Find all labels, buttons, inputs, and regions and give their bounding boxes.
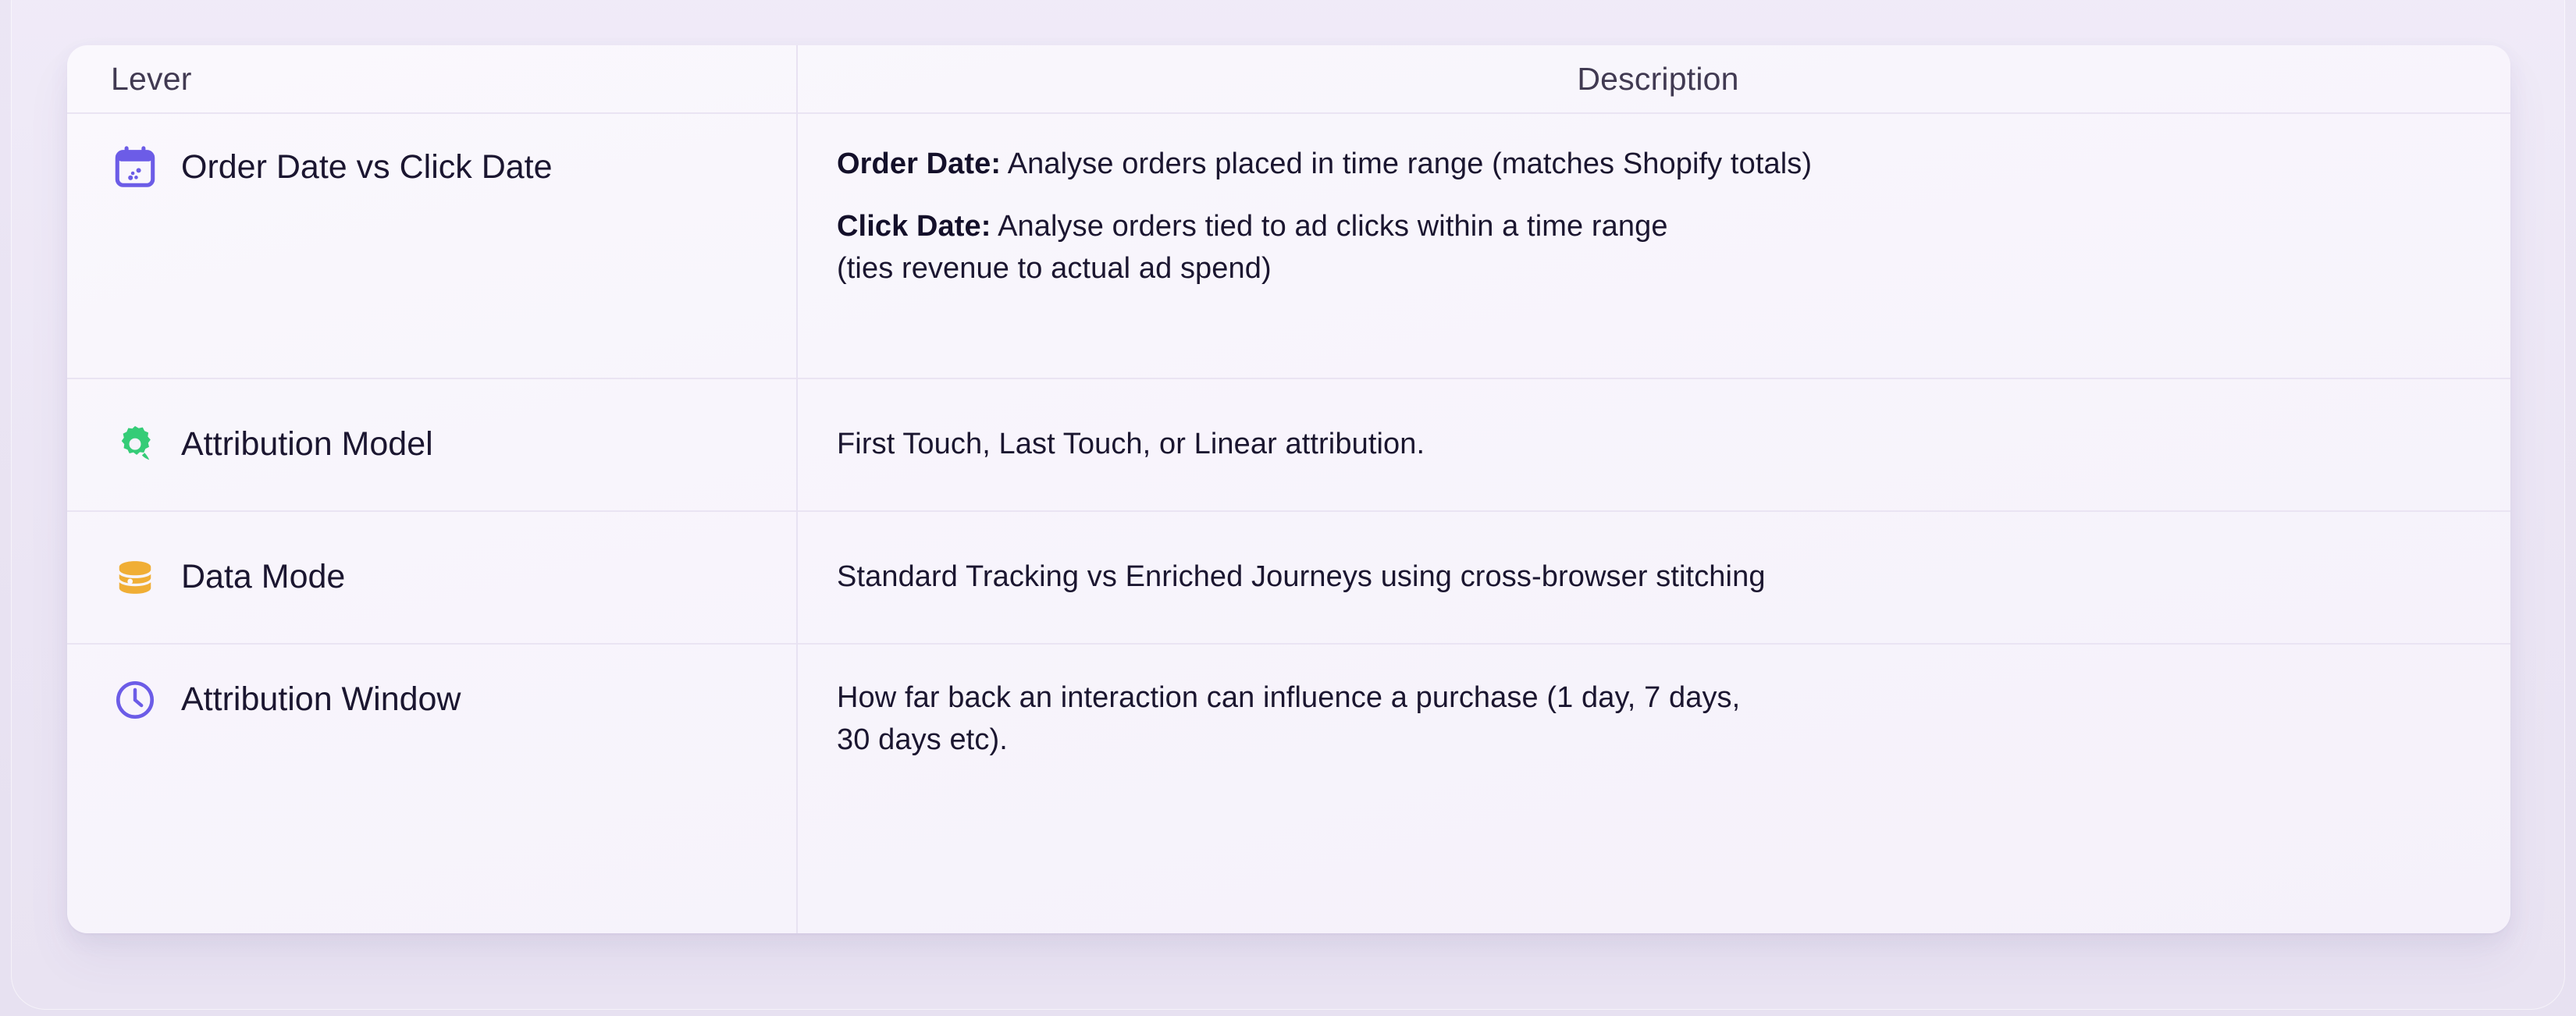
lever-label: Attribution Window (181, 682, 461, 717)
header-cell-description: Description (796, 45, 2510, 112)
table-row[interactable]: Attribution Model First Touch, Last Touc… (67, 379, 2510, 512)
table-row[interactable]: Data Mode Standard Tracking vs Enriched … (67, 512, 2510, 645)
lever-label: Attribution Model (181, 427, 433, 462)
levers-table-card: Lever Description (67, 45, 2510, 933)
description-bold-prefix: Click Date: (837, 210, 991, 243)
row-cell-description: Standard Tracking vs Enriched Journeys u… (796, 512, 2510, 643)
row-cell-description: Order Date: Analyse orders placed in tim… (796, 114, 2510, 378)
row-cell-lever: Attribution Model (67, 379, 796, 510)
clock-icon (111, 676, 159, 724)
row-cell-lever: Data Mode (67, 512, 796, 643)
row-cell-lever: Attribution Window (67, 645, 796, 867)
description-text-line2: 30 days etc). (837, 719, 2479, 762)
description-text: Analyse orders placed in time range (mat… (1001, 147, 1812, 180)
table-header-row: Lever Description (67, 45, 2510, 114)
database-icon (111, 553, 159, 602)
description-text: First Touch, Last Touch, or Linear attri… (837, 428, 1425, 460)
row-cell-lever: Order Date vs Click Date (67, 114, 796, 378)
page-stage: Lever Description (0, 0, 2576, 1016)
description-text: Standard Tracking vs Enriched Journeys u… (837, 560, 1766, 593)
lever-group: Order Date vs Click Date (111, 144, 553, 192)
description-text: Analyse orders tied to ad clicks within … (991, 210, 1668, 243)
description-paragraph: Standard Tracking vs Enriched Journeys u… (837, 556, 2479, 599)
description-paragraph: First Touch, Last Touch, or Linear attri… (837, 424, 2479, 466)
row-cell-description: How far back an interaction can influenc… (796, 645, 2510, 867)
gear-icon (111, 421, 159, 469)
lever-label: Order Date vs Click Date (181, 150, 553, 185)
calendar-icon (111, 144, 159, 192)
column-header-lever: Lever (111, 63, 192, 95)
table-row[interactable]: Attribution Window How far back an inter… (67, 645, 2510, 867)
levers-table: Lever Description (67, 45, 2510, 933)
column-header-description: Description (1577, 63, 1738, 95)
description-paragraph: Order Date: Analyse orders placed in tim… (837, 144, 2479, 186)
lever-group: Data Mode (111, 553, 345, 602)
lever-group: Attribution Window (111, 676, 461, 724)
description-text-line2: (ties revenue to actual ad spend) (837, 248, 2479, 290)
description-bold-prefix: Order Date: (837, 147, 1001, 180)
row-cell-description: First Touch, Last Touch, or Linear attri… (796, 379, 2510, 510)
description-paragraph: How far back an interaction can influenc… (837, 677, 2479, 762)
description-text: How far back an interaction can influenc… (837, 681, 1740, 714)
lever-group: Attribution Model (111, 421, 433, 469)
table-row[interactable]: Order Date vs Click Date Order Date: Ana… (67, 114, 2510, 379)
column-divider (796, 45, 798, 933)
header-cell-lever: Lever (67, 45, 796, 112)
description-paragraph: Click Date: Analyse orders tied to ad cl… (837, 206, 2479, 290)
lever-label: Data Mode (181, 560, 345, 595)
